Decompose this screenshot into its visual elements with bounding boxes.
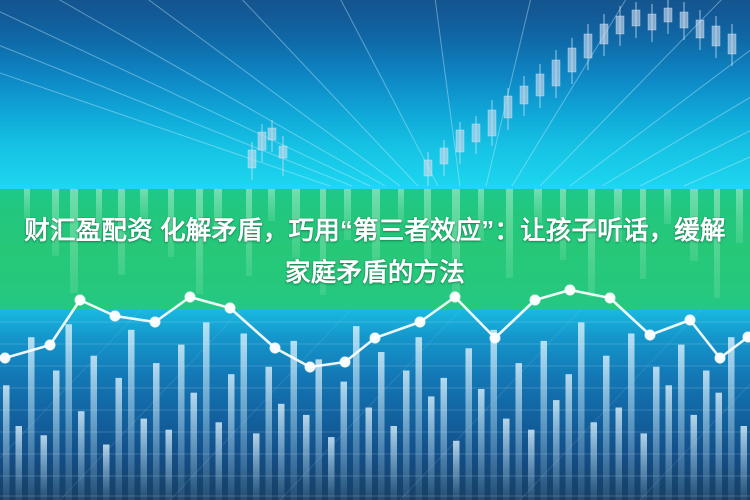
banner-image: 财汇盈配资 化解矛盾，巧用“第三者效应”：让孩子听话，缓解家庭矛盾的方法 (0, 0, 750, 500)
grid-horizontals (0, 2, 750, 184)
line-chart-series (0, 285, 750, 372)
candlestick-series (248, 0, 736, 186)
sea-diagonal-streaks (0, 300, 750, 500)
volume-bar-series (3, 322, 747, 500)
banner-title: 财汇盈配资 化解矛盾，巧用“第三者效应”：让孩子听话，缓解家庭矛盾的方法 (12, 210, 738, 294)
grid-radials (0, 0, 750, 186)
banner-title-block: 财汇盈配资 化解矛盾，巧用“第三者效应”：让孩子听话，缓解家庭矛盾的方法 (0, 210, 750, 294)
sea-gridlines (0, 322, 750, 496)
